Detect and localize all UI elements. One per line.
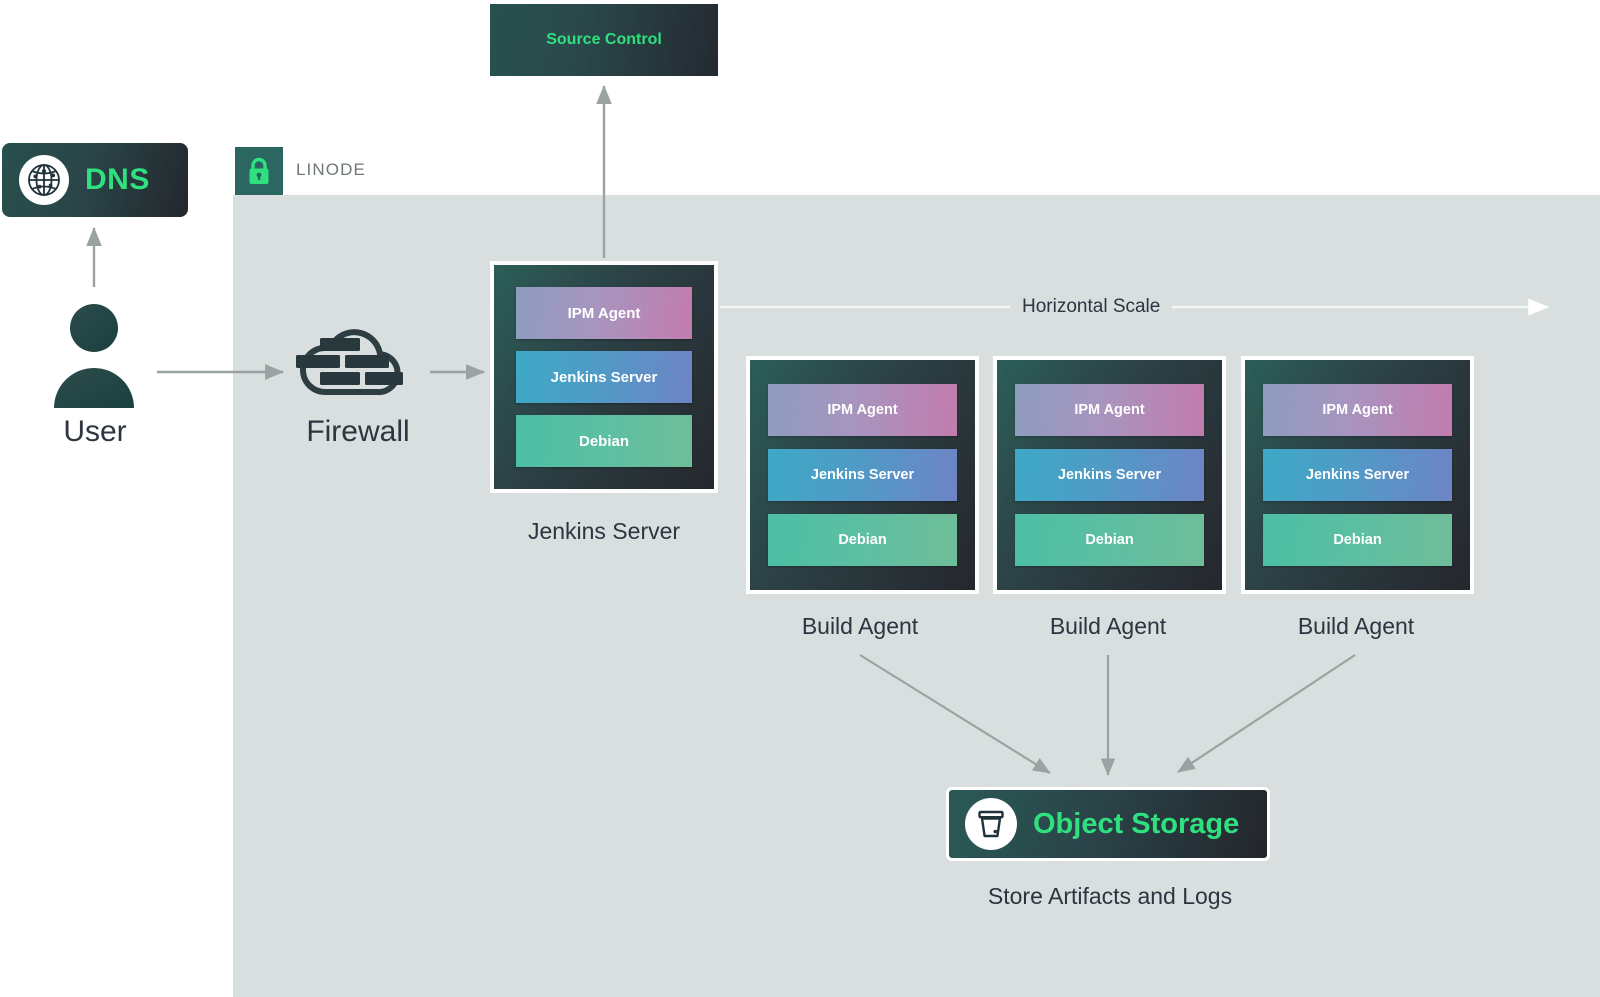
firewall-label: Firewall (258, 415, 458, 449)
layer-label: Jenkins Server (551, 369, 658, 386)
layer-label: IPM Agent (1322, 402, 1392, 418)
object-storage-caption: Store Artifacts and Logs (930, 883, 1290, 910)
object-storage-node[interactable]: Object Storage (946, 787, 1270, 861)
layer-jenkins-server: Jenkins Server (516, 351, 692, 403)
layer-label: Jenkins Server (811, 467, 914, 483)
user-label: User (0, 415, 190, 449)
layer-debian: Debian (516, 415, 692, 467)
layer-debian: Debian (1263, 514, 1452, 566)
layer-label: Debian (579, 433, 629, 450)
user-icon (48, 303, 140, 408)
jenkins-server-node[interactable]: IPM Agent Jenkins Server Debian (490, 261, 718, 493)
layer-ipm-agent: IPM Agent (768, 384, 957, 436)
layer-ipm-agent: IPM Agent (1263, 384, 1452, 436)
layer-jenkins-server: Jenkins Server (768, 449, 957, 501)
layer-label: IPM Agent (1074, 402, 1144, 418)
build-agent-caption-2: Build Agent (983, 613, 1233, 640)
linode-panel (233, 195, 1600, 997)
build-agent-node-1[interactable]: IPM Agent Jenkins Server Debian (746, 356, 979, 594)
dns-label: DNS (85, 163, 150, 197)
build-agent-caption-1: Build Agent (735, 613, 985, 640)
lock-icon (235, 147, 283, 195)
layer-label: Debian (1333, 532, 1381, 548)
diagram-canvas: LINODE Source Control (0, 0, 1600, 997)
build-agent-node-2[interactable]: IPM Agent Jenkins Server Debian (993, 356, 1226, 594)
layer-ipm-agent: IPM Agent (516, 287, 692, 339)
globe-icon (19, 155, 69, 205)
source-control-label: Source Control (546, 31, 662, 49)
layer-label: Debian (838, 532, 886, 548)
layer-label: Jenkins Server (1058, 467, 1161, 483)
layer-label: Debian (1085, 532, 1133, 548)
layer-label: IPM Agent (568, 305, 641, 322)
dns-node[interactable]: DNS (2, 143, 188, 217)
layer-debian: Debian (768, 514, 957, 566)
source-control-node[interactable]: Source Control (490, 4, 718, 76)
jenkins-server-caption: Jenkins Server (470, 518, 738, 545)
linode-panel-label: LINODE (296, 160, 366, 180)
build-agent-caption-3: Build Agent (1231, 613, 1481, 640)
layer-ipm-agent: IPM Agent (1015, 384, 1204, 436)
layer-jenkins-server: Jenkins Server (1015, 449, 1204, 501)
layer-jenkins-server: Jenkins Server (1263, 449, 1452, 501)
object-storage-label: Object Storage (1033, 808, 1239, 841)
layer-label: Jenkins Server (1306, 467, 1409, 483)
firewall-cloud-icon (290, 328, 426, 410)
layer-label: IPM Agent (827, 402, 897, 418)
layer-debian: Debian (1015, 514, 1204, 566)
build-agent-node-3[interactable]: IPM Agent Jenkins Server Debian (1241, 356, 1474, 594)
bucket-icon (965, 798, 1017, 850)
horizontal-scale-label: Horizontal Scale (1010, 296, 1172, 318)
